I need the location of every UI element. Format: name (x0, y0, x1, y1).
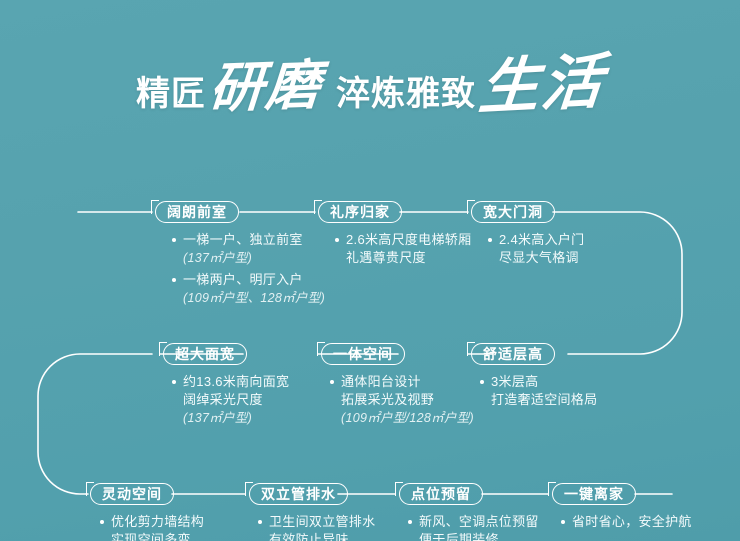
bullet-dot-icon (100, 520, 104, 524)
bullet-line: 新风、空调点位预留 (419, 513, 539, 531)
bullet-line: 省时省心，安全护航 (572, 513, 692, 531)
badge-label: 点位预留 (411, 484, 471, 504)
badge-row3-item3[interactable]: 点位预留 (399, 483, 483, 505)
bullet-item: 省时省心，安全护航 (561, 513, 692, 531)
bullet-line: 拓展采光及视野 (341, 391, 474, 409)
block-row1-item3: 2.4米高入户门 尽显大气格调 (488, 231, 584, 271)
block-row2-item3: 3米层高 打造奢适空间格局 (480, 373, 597, 413)
badge-row1-item2[interactable]: 礼序归家 (318, 201, 402, 223)
bullet-dot-icon (330, 380, 334, 384)
poster-root: 精匠研磨淬炼雅致生活 阔朗前室 一梯一户、独立前室 (137㎡户型) (0, 0, 740, 541)
bullet-line: 3米层高 (491, 373, 597, 391)
bullet-item: 约13.6米南向面宽 阔绰采光尺度 (137㎡户型) (172, 373, 289, 427)
headline-segment-2: 研磨 (207, 40, 325, 123)
bullet-line: 打造奢适空间格局 (491, 391, 597, 409)
connector-left-uturn (38, 354, 152, 494)
bullet-lines: 优化剪力墙结构 实现空间多变 (111, 513, 204, 541)
block-row3-item2: 卫生间双立管排水 有效防止异味 (258, 513, 375, 541)
badge-label: 双立管排水 (261, 484, 336, 504)
bullet-line: 有效防止异味 (269, 531, 375, 541)
bullet-dot-icon (488, 238, 492, 242)
badge-row3-item4[interactable]: 一键离家 (552, 483, 636, 505)
bullet-dot-icon (172, 380, 176, 384)
bullet-dot-icon (172, 238, 176, 242)
block-row3-item4: 省时省心，安全护航 (561, 513, 692, 535)
badge-row2-item3[interactable]: 舒适层高 (471, 343, 555, 365)
bullet-line: 一梯一户、独立前室 (183, 231, 303, 249)
bullet-line-note: (137㎡户型) (183, 249, 303, 267)
badge-row1-item1[interactable]: 阔朗前室 (155, 201, 239, 223)
bullet-dot-icon (480, 380, 484, 384)
block-row2-item1: 约13.6米南向面宽 阔绰采光尺度 (137㎡户型) (172, 373, 289, 431)
bullet-dot-icon (258, 520, 262, 524)
badge-row3-item1[interactable]: 灵动空间 (90, 483, 174, 505)
page-title: 精匠研磨淬炼雅致生活 (0, 36, 740, 123)
bullet-lines: 3米层高 打造奢适空间格局 (491, 373, 597, 409)
bullet-lines: 一梯一户、独立前室 (137㎡户型) (183, 231, 303, 267)
block-row3-item3: 新风、空调点位预留 便于后期装修 (408, 513, 539, 541)
bullet-dot-icon (172, 278, 176, 282)
badge-label: 礼序归家 (330, 202, 390, 222)
bullet-lines: 省时省心，安全护航 (572, 513, 692, 531)
headline-segment-1: 精匠 (136, 66, 206, 115)
bullet-dot-icon (408, 520, 412, 524)
badge-label: 超大面宽 (175, 344, 235, 364)
bullet-line-note: (109㎡户型、128㎡户型) (183, 289, 325, 307)
bullet-dot-icon (335, 238, 339, 242)
bullet-lines: 2.4米高入户门 尽显大气格调 (499, 231, 584, 267)
bullet-item: 卫生间双立管排水 有效防止异味 (258, 513, 375, 541)
badge-row3-item2[interactable]: 双立管排水 (249, 483, 348, 505)
bullet-line: 2.4米高入户门 (499, 231, 584, 249)
bullet-item: 通体阳台设计 拓展采光及视野 (109㎡户型/128㎡户型) (330, 373, 474, 427)
bullet-lines: 一梯两户、明厅入户 (109㎡户型、128㎡户型) (183, 271, 325, 307)
bullet-item: 优化剪力墙结构 实现空间多变 (100, 513, 204, 541)
block-row3-item1: 优化剪力墙结构 实现空间多变 (100, 513, 204, 541)
bullet-line: 尽显大气格调 (499, 249, 584, 267)
bullet-line: 优化剪力墙结构 (111, 513, 204, 531)
block-row1-item2: 2.6米高尺度电梯轿厢 礼遇尊贵尺度 (335, 231, 471, 271)
bullet-item: 3米层高 打造奢适空间格局 (480, 373, 597, 409)
badge-label: 灵动空间 (102, 484, 162, 504)
bullet-lines: 约13.6米南向面宽 阔绰采光尺度 (137㎡户型) (183, 373, 289, 427)
bullet-line: 通体阳台设计 (341, 373, 474, 391)
bullet-line: 约13.6米南向面宽 (183, 373, 289, 391)
badge-label: 阔朗前室 (167, 202, 227, 222)
bullet-item: 一梯一户、独立前室 (137㎡户型) (172, 231, 325, 267)
badge-label: 宽大门洞 (483, 202, 543, 222)
badge-label: 舒适层高 (483, 344, 543, 364)
bullet-line: 实现空间多变 (111, 531, 204, 541)
bullet-line: 阔绰采光尺度 (183, 391, 289, 409)
bullet-item: 新风、空调点位预留 便于后期装修 (408, 513, 539, 541)
bullet-line: 便于后期装修 (419, 531, 539, 541)
badge-row1-item3[interactable]: 宽大门洞 (471, 201, 555, 223)
bullet-dot-icon (561, 520, 565, 524)
bullet-lines: 新风、空调点位预留 便于后期装修 (419, 513, 539, 541)
headline-segment-3: 淬炼雅致 (336, 66, 476, 115)
badge-label: 一体空间 (333, 344, 393, 364)
badge-row2-item1[interactable]: 超大面宽 (163, 343, 247, 365)
bullet-lines: 通体阳台设计 拓展采光及视野 (109㎡户型/128㎡户型) (341, 373, 474, 427)
badge-label: 一键离家 (564, 484, 624, 504)
block-row1-item1: 一梯一户、独立前室 (137㎡户型) 一梯两户、明厅入户 (109㎡户型、128… (172, 231, 325, 311)
bullet-line-note: (137㎡户型) (183, 409, 289, 427)
bullet-item: 2.6米高尺度电梯轿厢 礼遇尊贵尺度 (335, 231, 471, 267)
bullet-lines: 卫生间双立管排水 有效防止异味 (269, 513, 375, 541)
bullet-line: 2.6米高尺度电梯轿厢 (346, 231, 471, 249)
bullet-line: 卫生间双立管排水 (269, 513, 375, 531)
bullet-item: 2.4米高入户门 尽显大气格调 (488, 231, 584, 267)
badge-row2-item2[interactable]: 一体空间 (321, 343, 405, 365)
bullet-line: 礼遇尊贵尺度 (346, 249, 471, 267)
headline-segment-4: 生活 (476, 33, 608, 126)
bullet-item: 一梯两户、明厅入户 (109㎡户型、128㎡户型) (172, 271, 325, 307)
block-row2-item2: 通体阳台设计 拓展采光及视野 (109㎡户型/128㎡户型) (330, 373, 474, 431)
bullet-line-note: (109㎡户型/128㎡户型) (341, 409, 474, 427)
bullet-line: 一梯两户、明厅入户 (183, 271, 325, 289)
bullet-lines: 2.6米高尺度电梯轿厢 礼遇尊贵尺度 (346, 231, 471, 267)
